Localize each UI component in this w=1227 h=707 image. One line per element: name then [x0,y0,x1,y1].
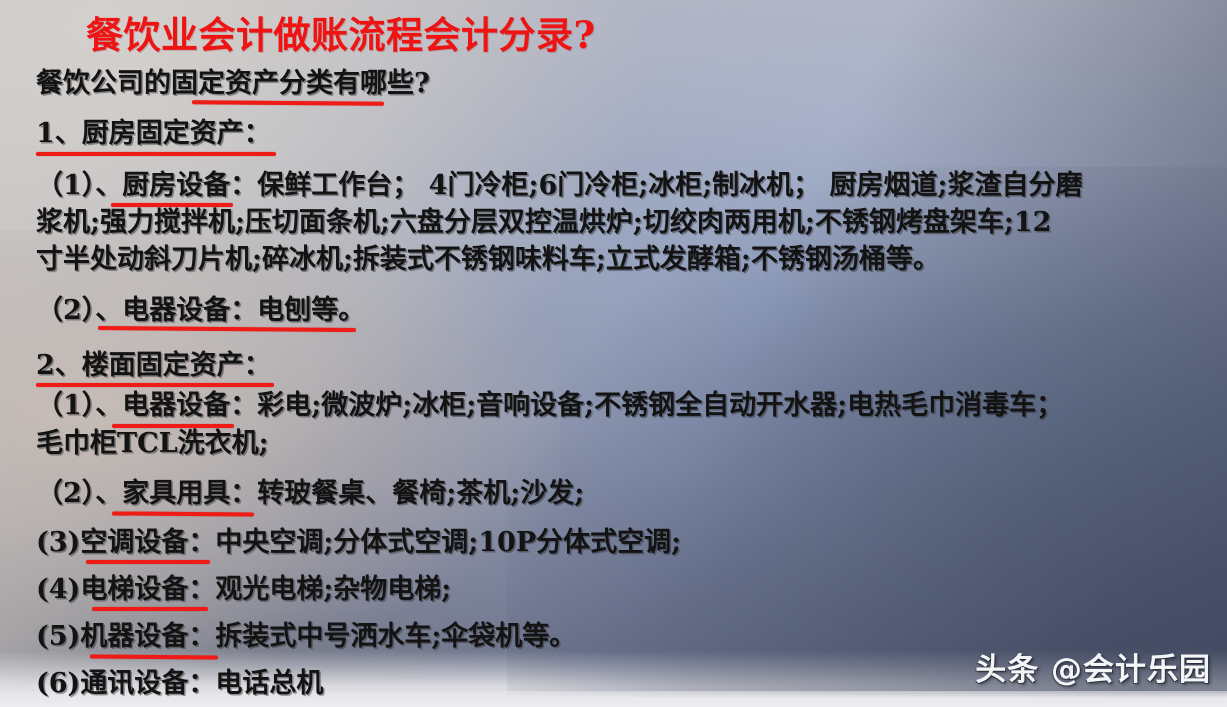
underline-item-2-3 [86,560,210,564]
item-1-2: （2）、电器设备：电刨等。 [36,295,365,327]
item-2-2: （2）、家具用具：转玻餐桌、餐椅;茶机;沙发; [36,478,584,510]
item-1-1-continued-a: 浆机;强力搅拌机;压切面条机;六盘分层双控温烘炉;切绞肉两用机;不锈钢烤盘架车;… [36,207,1051,239]
item-2-1-continued: 毛巾柜TCL洗衣机; [36,428,269,460]
item-2-1: （1）、电器设备：彩电;微波炉;冰柜;音响设备;不锈钢全自动开水器;电热毛巾消毒… [36,390,1063,422]
slide-content: 餐饮业会计做账流程会计分录? 餐饮公司的固定资产分类有哪些? 1、厨房固定资产：… [0,0,1227,707]
item-2-3: (3)空调设备：中央空调;分体式空调;10P分体式空调; [36,527,681,559]
question-heading: 餐饮公司的固定资产分类有哪些? [36,68,430,100]
underline-item-1-2 [98,326,356,332]
underline-item-2-4 [92,607,208,611]
section-2-heading: 2、楼面固定资产： [36,350,271,382]
item-2-5: (5)机器设备：拆装式中号洒水车;伞袋机等。 [36,621,576,653]
item-1-1-continued-b: 寸半处动斜刀片机;碎冰机;拆装式不锈钢味料车;立式发酵箱;不锈钢汤桶等。 [36,244,940,276]
underline-item-2-2 [112,511,254,516]
item-2-6: (6)通讯设备：电话总机 [36,668,323,700]
item-2-4: (4)电梯设备：观光电梯;杂物电梯; [36,574,451,606]
slide-canvas: 餐饮业会计做账流程会计分录? 餐饮公司的固定资产分类有哪些? 1、厨房固定资产：… [0,0,1227,707]
watermark-toutiao: 头条 @会计乐园 [975,651,1211,689]
slide-title: 餐饮业会计做账流程会计分录? [86,12,596,58]
underline-item-2-5 [90,654,218,659]
underline-question-heading [192,100,384,106]
underline-section-1 [36,152,276,156]
item-1-1: （1）、厨房设备：保鲜工作台； 4门冷柜;6门冷柜;冰柜;制冰机； 厨房烟道;浆… [36,170,1083,202]
underline-section-2 [36,383,274,387]
section-1-heading: 1、厨房固定资产： [36,118,271,150]
